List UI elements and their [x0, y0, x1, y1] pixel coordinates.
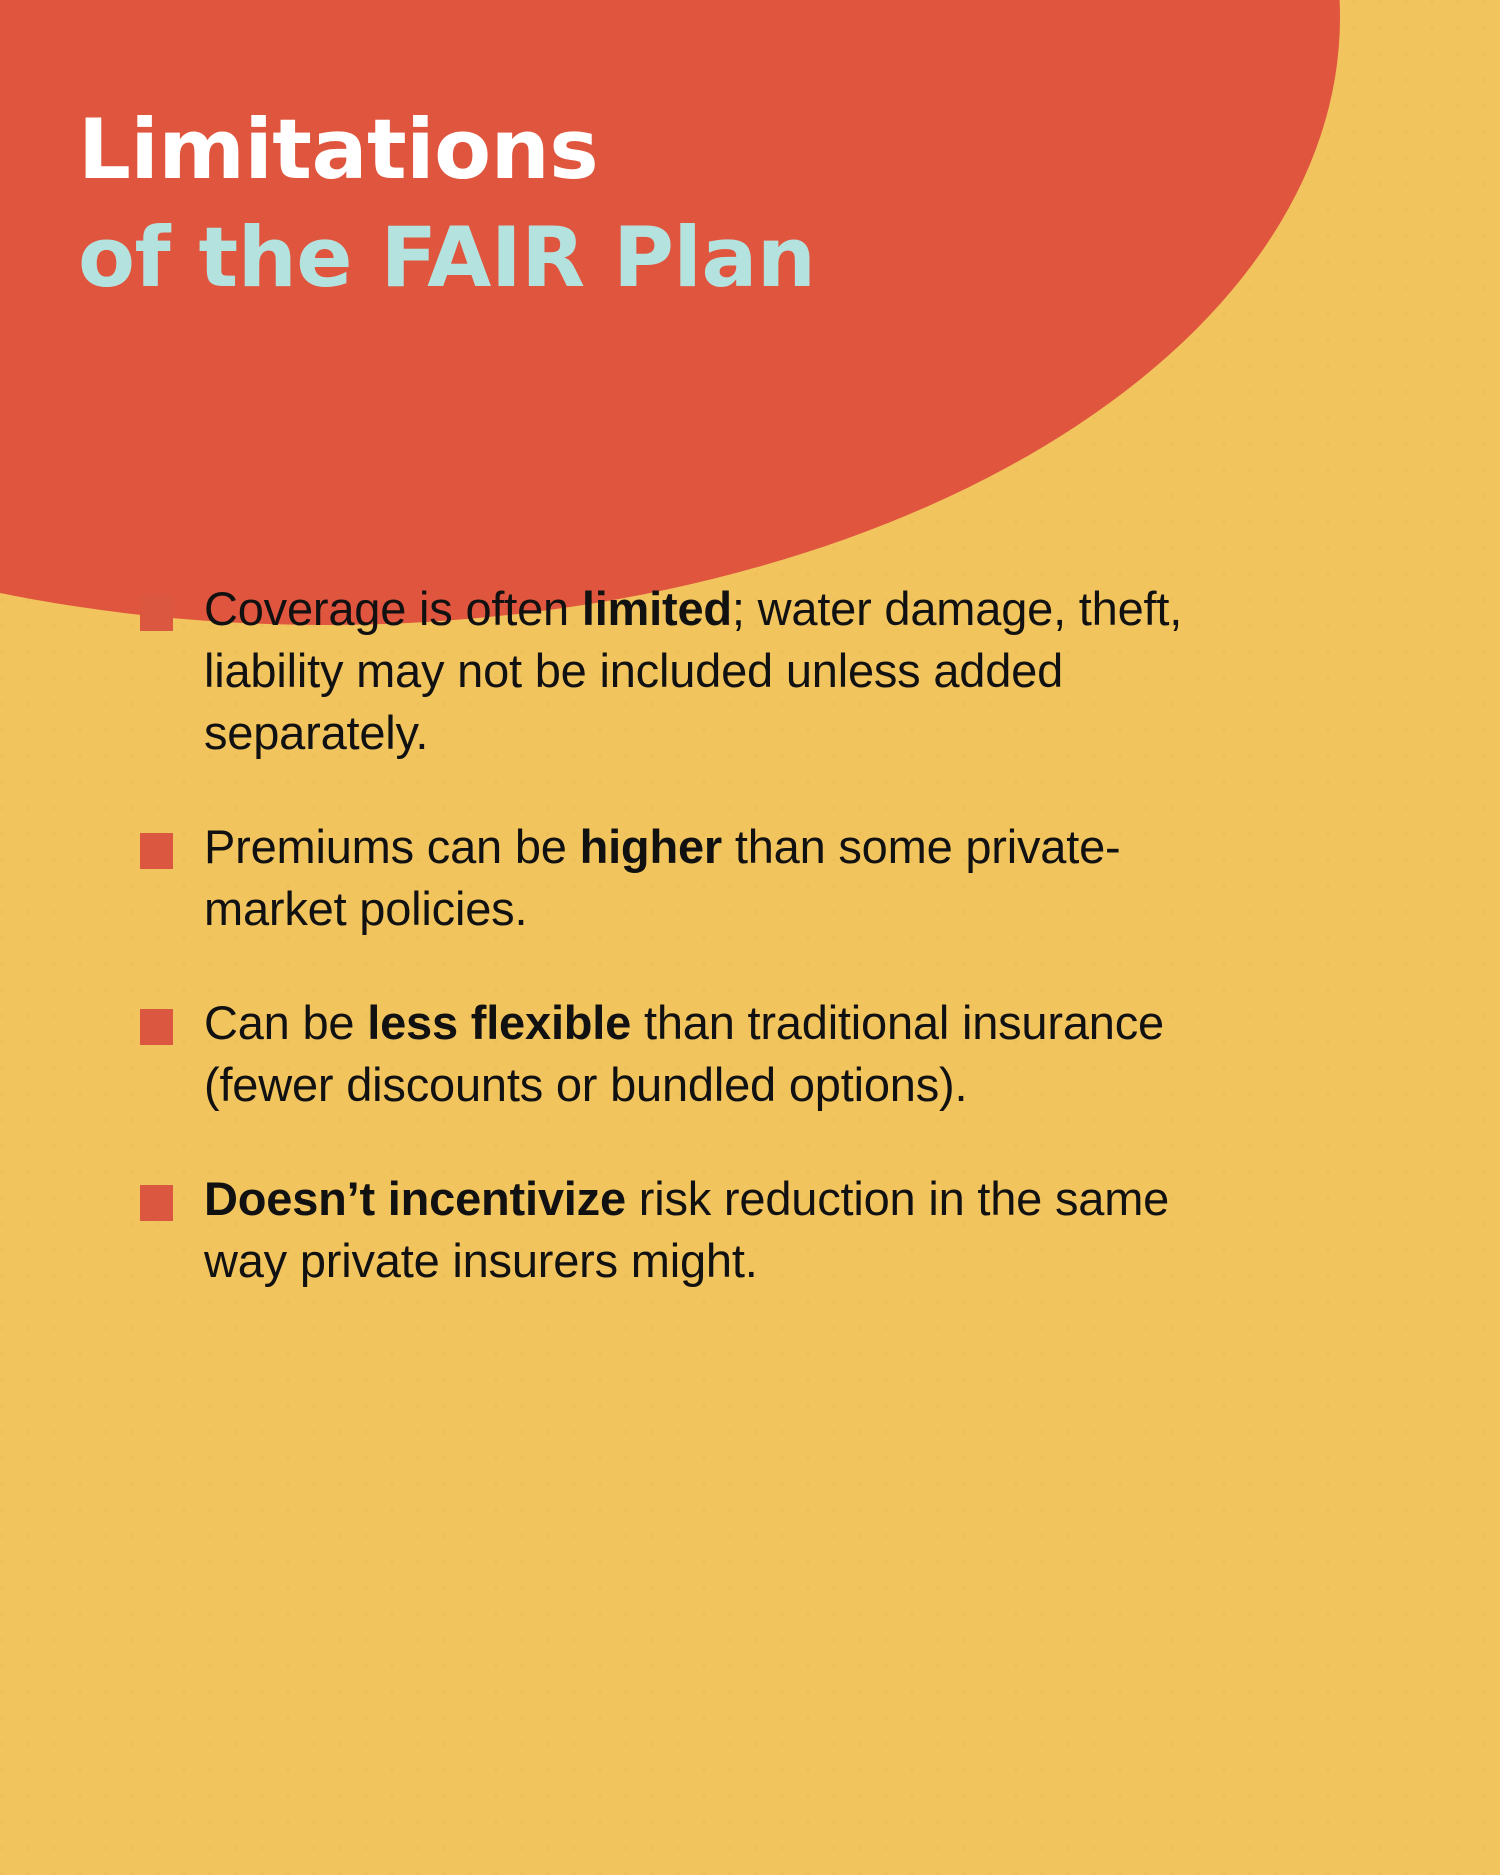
body-text: Coverage is often [204, 582, 582, 635]
list-item-text: Coverage is often limited; water damage,… [140, 578, 1214, 764]
list-item-text: Premiums can be higher than some private… [140, 816, 1214, 940]
list-item-row: Doesn’t incentivize risk reduction in th… [140, 1168, 1340, 1292]
poster-header: Limitations of the FAIR Plan [78, 96, 1178, 312]
emphasis-text: less flexible [367, 996, 631, 1049]
list-item-row: Premiums can be higher than some private… [140, 816, 1340, 940]
list-item-text: Doesn’t incentivize risk reduction in th… [140, 1168, 1214, 1292]
list-item: Premiums can be higher than some private… [140, 816, 1340, 940]
page-title-line-2: of the FAIR Plan [78, 204, 1178, 312]
limitations-bullet-list: Coverage is often limited; water damage,… [140, 578, 1340, 1344]
emphasis-text: Doesn’t incentivize [204, 1172, 626, 1225]
body-text: Premiums can be [204, 820, 580, 873]
page-title-line-1: Limitations [78, 96, 1178, 204]
list-item-row: Can be less flexible than traditional in… [140, 992, 1340, 1116]
list-item-row: Coverage is often limited; water damage,… [140, 578, 1340, 764]
list-item: Doesn’t incentivize risk reduction in th… [140, 1168, 1340, 1292]
list-item-text: Can be less flexible than traditional in… [140, 992, 1214, 1116]
body-text: Can be [204, 996, 367, 1049]
header-blob-shape [0, 0, 1340, 625]
list-item: Coverage is often limited; water damage,… [140, 578, 1340, 764]
list-item: Can be less flexible than traditional in… [140, 992, 1340, 1116]
emphasis-text: higher [580, 820, 722, 873]
poster-canvas: Limitations of the FAIR Plan Coverage is… [0, 0, 1500, 1875]
emphasis-text: limited [582, 582, 732, 635]
